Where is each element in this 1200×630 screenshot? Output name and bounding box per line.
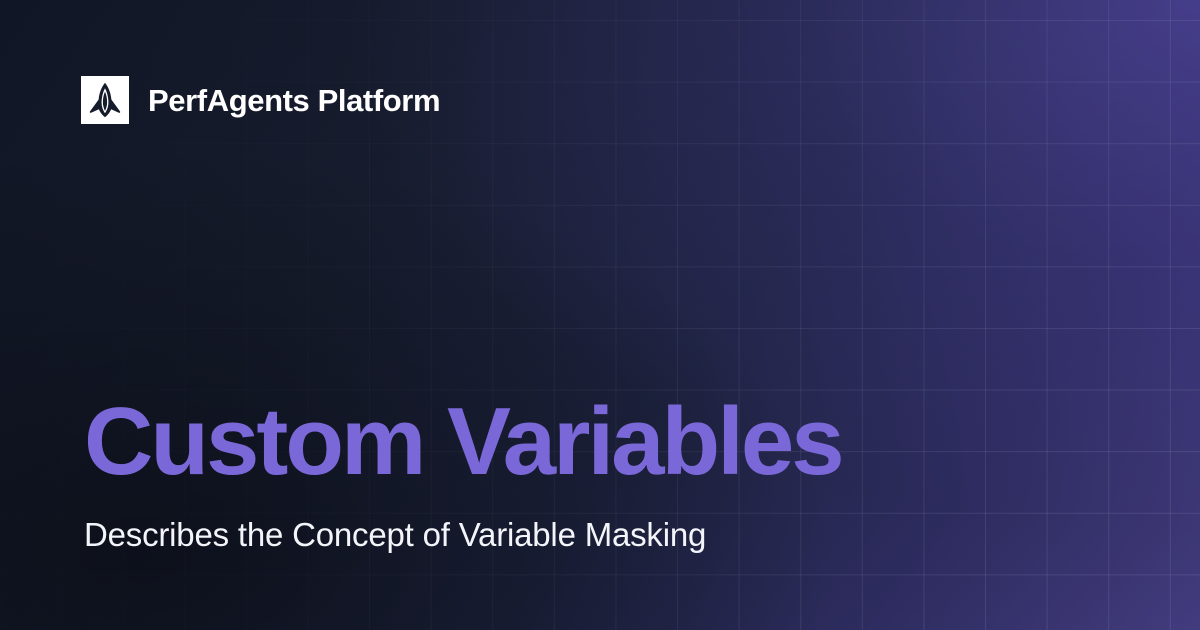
og-card: PerfAgents Platform Custom Variables Des… bbox=[0, 0, 1200, 630]
brand-name: PerfAgents Platform bbox=[148, 85, 440, 116]
hero-block: Custom Variables Describes the Concept o… bbox=[84, 394, 1120, 554]
brand-lockup: PerfAgents Platform bbox=[81, 76, 440, 124]
page-title: Custom Variables bbox=[84, 394, 1120, 490]
page-subtitle: Describes the Concept of Variable Maskin… bbox=[84, 516, 1120, 554]
rocket-arrowhead-icon bbox=[81, 76, 129, 124]
